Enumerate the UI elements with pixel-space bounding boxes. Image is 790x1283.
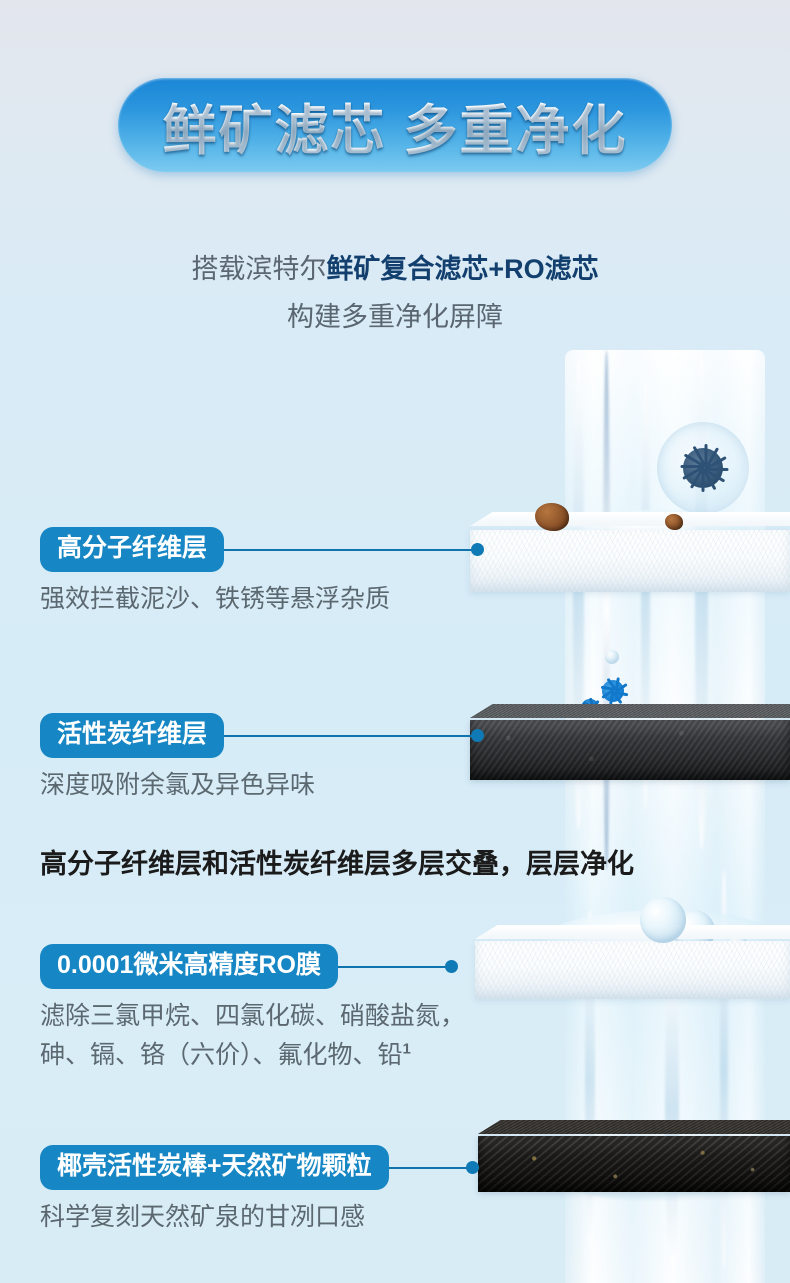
layer-2-description: 深度吸附余氯及异色异味 — [40, 767, 484, 804]
leader-line — [224, 735, 472, 737]
subtitle-line-1: 搭载滨特尔鲜矿复合滤芯+RO滤芯 — [0, 250, 790, 288]
layer-3-description-line-2: 砷、镉、铬（六价）、氟化物、铅1 — [40, 1037, 465, 1074]
leader-dot — [471, 543, 484, 556]
layer-3-desc-text: 砷、镉、铬（六价）、氟化物、铅 — [40, 1041, 403, 1069]
badge-row: 高分子纤维层 — [40, 527, 484, 572]
layer-1-badge[interactable]: 高分子纤维层 — [40, 527, 224, 572]
badge-row: 活性炭纤维层 — [40, 713, 484, 758]
badge-row: 椰壳活性炭棒+天然矿物颗粒 — [40, 1145, 479, 1190]
sediment-particle — [665, 514, 683, 530]
leader-line — [224, 549, 472, 551]
subtitle-emphasis: 鲜矿复合滤芯+RO滤芯 — [326, 254, 598, 284]
water-bubble — [605, 650, 619, 664]
sediment-particle — [535, 503, 569, 531]
subtitle-block: 搭载滨特尔鲜矿复合滤芯+RO滤芯 构建多重净化屏障 — [0, 250, 790, 337]
water-streak — [603, 350, 610, 870]
layer-4-badge[interactable]: 椰壳活性炭棒+天然矿物颗粒 — [40, 1145, 389, 1190]
layer-2-badge[interactable]: 活性炭纤维层 — [40, 713, 224, 758]
badge-row: 0.0001微米高精度RO膜 — [40, 944, 465, 989]
callout-layer-1: 高分子纤维层 强效拦截泥沙、铁锈等悬浮杂质 — [40, 527, 484, 618]
layer-3-badge[interactable]: 0.0001微米高精度RO膜 — [40, 944, 338, 989]
water-bubble — [640, 897, 686, 943]
dark-carbon-fiber-slab — [470, 704, 790, 780]
leader-dot — [466, 1161, 479, 1174]
page-background: 鲜矿滤芯 多重净化 搭载滨特尔鲜矿复合滤芯+RO滤芯 构建多重净化屏障 高分子纤… — [0, 0, 790, 1283]
leader-line — [389, 1167, 467, 1169]
layer-1-description: 强效拦截泥沙、铁锈等悬浮杂质 — [40, 581, 484, 618]
header-banner: 鲜矿滤芯 多重净化 — [118, 78, 672, 172]
callout-layer-3: 0.0001微米高精度RO膜 滤除三氯甲烷、四氯化碳、硝酸盐氮， 砷、镉、铬（六… — [40, 944, 465, 1073]
center-statement: 高分子纤维层和活性炭纤维层多层交叠，层层净化 — [40, 842, 634, 881]
leader-dot — [445, 960, 458, 973]
callout-layer-4: 椰壳活性炭棒+天然矿物颗粒 科学复刻天然矿泉的甘冽口感 — [40, 1145, 479, 1236]
leader-line — [338, 966, 446, 968]
layer-3-description-line-1: 滤除三氯甲烷、四氯化碳、硝酸盐氮， — [40, 998, 465, 1035]
subtitle-prefix: 搭载滨特尔 — [191, 254, 326, 284]
virus-microbe-icon — [657, 422, 749, 514]
coconut-carbon-block-slab — [478, 1120, 790, 1192]
white-fiber-slab — [470, 512, 790, 592]
callout-layer-2: 活性炭纤维层 深度吸附余氯及异色异味 — [40, 713, 484, 804]
leader-dot — [471, 729, 484, 742]
footnote-marker: 1 — [403, 1040, 411, 1057]
banner-title: 鲜矿滤芯 多重净化 — [162, 86, 627, 165]
subtitle-line-2: 构建多重净化屏障 — [0, 298, 790, 336]
white-ro-membrane-slab — [475, 925, 790, 999]
layer-4-description: 科学复刻天然矿泉的甘冽口感 — [40, 1199, 479, 1236]
